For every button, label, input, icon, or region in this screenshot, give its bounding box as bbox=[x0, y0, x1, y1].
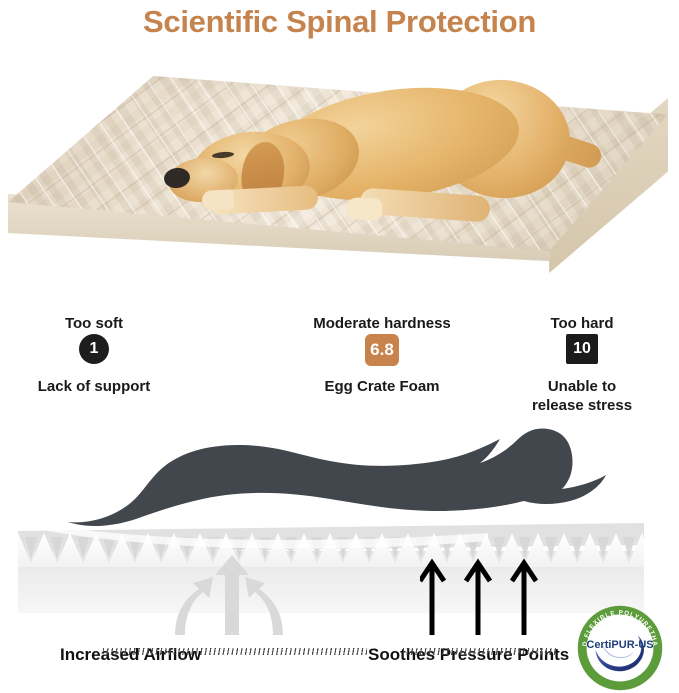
scale-label-bottom-soft: Lack of support bbox=[10, 377, 178, 396]
badge-center-text: CertiPUR-US bbox=[586, 639, 653, 651]
scale-badge-row-moderate: 6.8 bbox=[296, 334, 468, 368]
scale-badge-hard: 10 bbox=[566, 334, 598, 364]
certipur-us-badge: CERTIFIED FLEXIBLE POLYURETHANE FOAM WWW… bbox=[576, 604, 664, 692]
dog-paw-far bbox=[345, 197, 382, 221]
scale-label-bottom-hard-line2: release stress bbox=[496, 396, 668, 415]
scale-badge-row-soft: 1 bbox=[10, 334, 178, 368]
page-title: Scientific Spinal Protection bbox=[0, 2, 679, 42]
airflow-arrow-left bbox=[175, 577, 213, 635]
scale-point-too-soft: Too soft 1 Lack of support bbox=[10, 314, 178, 396]
scale-label-bottom-moderate: Egg Crate Foam bbox=[296, 377, 468, 396]
hero-product-photo bbox=[0, 48, 679, 292]
scale-label-top-moderate: Moderate hardness bbox=[296, 314, 468, 334]
scale-point-too-hard: Too hard 10 Unable to release stress bbox=[496, 314, 668, 415]
increased-airflow-arrows bbox=[165, 553, 295, 635]
scale-connector-left bbox=[103, 648, 367, 655]
pressure-point-arrows bbox=[420, 553, 550, 635]
scale-label-bottom-hard-line1: Unable to bbox=[496, 377, 668, 396]
scale-badge-row-hard: 10 bbox=[496, 334, 668, 368]
scale-badge-soft: 1 bbox=[79, 334, 109, 364]
labrador-dog-photo bbox=[150, 80, 580, 260]
dog-silhouette bbox=[30, 425, 620, 533]
scale-label-top-hard: Too hard bbox=[496, 314, 668, 334]
airflow-arrow-right bbox=[245, 577, 283, 635]
product-infographic: Scientific Spinal Protection bbox=[0, 0, 679, 693]
dog-paw-near bbox=[201, 189, 234, 211]
scale-badge-moderate: 6.8 bbox=[365, 334, 399, 366]
scale-connector-right bbox=[403, 648, 558, 655]
scale-point-moderate: Moderate hardness 6.8 Egg Crate Foam bbox=[296, 314, 468, 396]
scale-label-bottom-hard: Unable to release stress bbox=[496, 377, 668, 415]
hardness-scale: Too soft 1 Lack of support Moderate hard… bbox=[0, 300, 679, 420]
airflow-arrow-center bbox=[215, 555, 249, 635]
pressure-relief-illustration bbox=[0, 425, 679, 630]
scale-label-top-soft: Too soft bbox=[10, 314, 178, 334]
